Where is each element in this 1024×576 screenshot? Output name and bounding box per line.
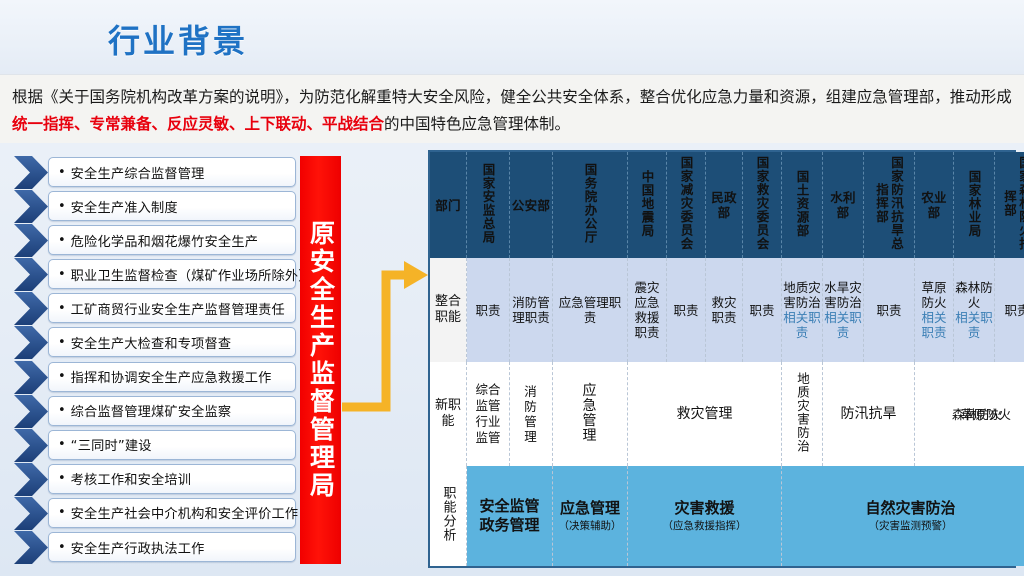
bullet-icon: • xyxy=(58,370,66,383)
cell-main-text: 消防管理 xyxy=(518,384,544,444)
table-cell: 森林防火草原防火 xyxy=(915,362,1024,466)
list-item[interactable]: •工矿商贸行业安全生产监督管理责任 xyxy=(14,292,296,325)
list-item[interactable]: •考核工作和安全培训 xyxy=(14,463,296,496)
table-cell: 职责 xyxy=(995,258,1024,362)
table-cell: 应急管理职责 xyxy=(553,258,628,362)
cell-main-text: 职责 xyxy=(668,303,704,318)
list-item[interactable]: •“三同时”建设 xyxy=(14,429,296,462)
cell-main-text: 草原防火 xyxy=(916,280,952,310)
row-label-text: 职能分析 xyxy=(440,486,457,542)
list-item-pill[interactable]: •安全生产社会中介机构和安全评价工作 xyxy=(48,498,296,528)
bullet-icon: • xyxy=(58,404,66,417)
cell-main-text: 地质灾害防治 xyxy=(794,372,810,453)
bullet-icon: • xyxy=(58,472,66,485)
bullet-icon: • xyxy=(58,541,66,554)
cell-main-text: 森林防火 xyxy=(955,280,993,310)
table-row-function-analysis: 职能分析安全监管政务管理应急管理（决策辅助）灾害救援（应急救援指挥）自然灾害防治… xyxy=(430,466,1024,566)
intro-paragraph: 根据《关于国务院机构改革方案的说明》，为防范化解重特大安全风险，健全公共安全体系… xyxy=(12,84,1012,138)
bullet-icon: • xyxy=(58,506,66,519)
cell-main-text: 自然灾害防治 xyxy=(865,499,955,517)
bullet-icon: • xyxy=(58,200,66,213)
cell-main-text: 消防管理职责 xyxy=(511,295,551,325)
list-item[interactable]: •安全生产社会中介机构和安全评价工作 xyxy=(14,497,296,530)
list-item-pill[interactable]: •工矿商贸行业安全生产监督管理责任 xyxy=(48,293,296,323)
cell-sub-text: 相关职责 xyxy=(824,310,862,340)
chevron-right-icon xyxy=(14,497,50,530)
table-cell: 地质灾害防治 xyxy=(782,362,823,466)
paragraph-part-2-highlight: 统一指挥、专常兼备、反应灵敏、上下联动、平战结合 xyxy=(12,115,384,133)
table-cell: 综合监管行业监管 xyxy=(467,362,510,466)
header-label: 中国地震局 xyxy=(640,170,655,238)
header-label: 国土资源部 xyxy=(795,170,810,238)
chevron-right-icon xyxy=(14,463,50,496)
header-label: 部门 xyxy=(435,198,461,213)
list-item-pill[interactable]: •考核工作和安全培训 xyxy=(48,464,296,494)
cell-sub-text: 相关职责 xyxy=(916,310,952,340)
list-item-pill[interactable]: •“三同时”建设 xyxy=(48,430,296,460)
header-label: 农业部 xyxy=(921,190,947,220)
list-item[interactable]: •安全生产综合监督管理 xyxy=(14,156,296,189)
elbow-arrow xyxy=(340,255,430,445)
table-header-cell: 国家安监总局 xyxy=(467,152,510,258)
table-header-cell: 农业部 xyxy=(915,152,954,258)
table-cell: 职责 xyxy=(467,258,510,362)
list-item[interactable]: •危险化学品和烟花爆竹安全生产 xyxy=(14,224,296,257)
cell-main-text: 应急管理 xyxy=(560,499,620,517)
cell-main-text: 水旱灾害防治 xyxy=(824,280,862,310)
header-label: 国家林业局 xyxy=(967,170,982,238)
header-label: 国家减灾委员会 xyxy=(679,156,694,251)
cell-main-text: 防汛抗旱 xyxy=(841,406,897,422)
chevron-right-icon xyxy=(14,224,50,257)
header-label: 国家安监总局 xyxy=(481,163,496,244)
cell-main-text: 救灾管理 xyxy=(677,406,733,422)
cell-main-text: 综合监管行业监管 xyxy=(475,382,501,446)
table-cell: 水旱灾害防治相关职责 xyxy=(823,258,864,362)
cell-main-text: 灾害救援 xyxy=(674,499,734,517)
cell-main-text: 职责 xyxy=(468,303,508,318)
header-label: 国家救灾委员会 xyxy=(755,156,770,251)
table-cell: 职责 xyxy=(864,258,915,362)
cell-main-text: 救灾职责 xyxy=(707,295,741,325)
list-item-label: 职业卫生监督检查（煤矿作业场所除外） xyxy=(71,265,312,284)
table-cell: 安全监管政务管理 xyxy=(467,466,553,566)
chevron-right-icon xyxy=(14,156,50,189)
left-function-list: •安全生产综合监督管理•安全生产准入制度•危险化学品和烟花爆竹安全生产•职业卫生… xyxy=(14,156,296,564)
list-item-label: 安全生产综合监督管理 xyxy=(71,163,205,182)
table-cell: 防汛抗旱 xyxy=(823,362,915,466)
list-item-pill[interactable]: •指挥和协调安全生产应急救援工作 xyxy=(48,362,296,392)
row-label-new-functions: 新职能 xyxy=(430,362,467,466)
cell-main-text: 安全监管政务管理 xyxy=(475,497,545,535)
table-cell: 应急管理 xyxy=(553,362,628,466)
list-item[interactable]: •综合监督管理煤矿安全监察 xyxy=(14,395,296,428)
list-item[interactable]: •安全生产准入制度 xyxy=(14,190,296,223)
page-title: 行业背景 xyxy=(108,16,248,62)
list-item[interactable]: •安全生产行政执法工作 xyxy=(14,531,296,564)
table-cell: 灾害救援（应急救援指挥） xyxy=(628,466,782,566)
table-cell: 地质灾害防治相关职责 xyxy=(782,258,823,362)
list-item-label: “三同时”建设 xyxy=(71,435,152,454)
table-row-integrated-functions: 整合职能职责消防管理职责应急管理职责震灾应急救援职责职责救灾职责职责地质灾害防治… xyxy=(430,258,1024,362)
table-header-cell: 国家防汛抗旱总指挥部 xyxy=(864,152,915,258)
list-item-label: 指挥和协调安全生产应急救援工作 xyxy=(71,367,272,386)
table-cell: 草原防火相关职责 xyxy=(915,258,954,362)
bullet-icon: • xyxy=(58,438,66,451)
list-item-pill[interactable]: •危险化学品和烟花爆竹安全生产 xyxy=(48,225,296,255)
red-banner-label: 原安全生产监督管理局 xyxy=(304,220,338,500)
list-item-label: 安全生产准入制度 xyxy=(71,197,178,216)
cell-main-text: 职责 xyxy=(744,303,780,318)
table-header-cell: 国务院办公厅 xyxy=(553,152,628,258)
table-header-cell: 民政部 xyxy=(706,152,743,258)
bullet-icon: • xyxy=(58,234,66,247)
row-label-integrated: 整合职能 xyxy=(430,258,467,362)
header-label: 公安部 xyxy=(512,198,550,213)
chevron-right-icon xyxy=(14,292,50,325)
table-cell: 救灾职责 xyxy=(706,258,743,362)
list-item[interactable]: •安全生产大检查和专项督查 xyxy=(14,326,296,359)
header-label: 国务院办公厅 xyxy=(583,163,598,244)
paragraph-part-1: 根据《关于国务院机构改革方案的说明》，为防范化解重特大安全风险，健全公共安全体系… xyxy=(12,88,1012,106)
bullet-icon: • xyxy=(58,336,66,349)
cell-sub-text: 相关职责 xyxy=(783,310,821,340)
paragraph-part-3: 的中国特色应急管理体制。 xyxy=(384,115,570,133)
cell-note-text: （灾害监测预警） xyxy=(783,519,1024,534)
cell-note-text: （应急救援指挥） xyxy=(629,519,780,534)
chevron-right-icon xyxy=(14,429,50,462)
red-vertical-banner: 原安全生产监督管理局 xyxy=(300,156,341,564)
cell-main-text: 地质灾害防治 xyxy=(783,280,821,310)
cell-main-text: 职责 xyxy=(865,303,913,318)
list-item-label: 考核工作和安全培训 xyxy=(71,469,192,488)
table-header-cell: 中国地震局 xyxy=(628,152,667,258)
table-header-cell: 国家救灾委员会 xyxy=(743,152,782,258)
table-cell: 救灾管理 xyxy=(628,362,782,466)
table-header-cell: 国家森林防火指挥部 xyxy=(995,152,1024,258)
table-cell: 自然灾害防治（灾害监测预警） xyxy=(782,466,1024,566)
list-item-pill[interactable]: •安全生产综合监督管理 xyxy=(48,157,296,187)
list-item-pill[interactable]: •安全生产行政执法工作 xyxy=(48,532,296,562)
bullet-icon: • xyxy=(58,166,66,179)
list-item-label: 危险化学品和烟花爆竹安全生产 xyxy=(71,231,258,250)
table-cell: 森林防火相关职责 xyxy=(954,258,995,362)
bullet-icon: • xyxy=(58,302,66,315)
list-item[interactable]: •职业卫生监督检查（煤矿作业场所除外） xyxy=(14,258,296,291)
list-item-label: 工矿商贸行业安全生产监督管理责任 xyxy=(71,299,285,318)
list-item-label: 综合监督管理煤矿安全监察 xyxy=(71,401,232,420)
table-cell: 职责 xyxy=(743,258,782,362)
bullet-icon: • xyxy=(58,268,66,281)
table-header-cell: 水利部 xyxy=(823,152,864,258)
cell-note-text: （决策辅助） xyxy=(554,519,626,534)
overlapping-text: 森林防火草原防火 xyxy=(952,407,1002,422)
chevron-right-icon xyxy=(14,531,50,564)
cell-main-text: 职责 xyxy=(996,303,1024,318)
table-header-row: 部门国家安监总局公安部国务院办公厅中国地震局国家减灾委员会民政部国家救灾委员会国… xyxy=(430,152,1024,258)
list-item-pill[interactable]: •综合监督管理煤矿安全监察 xyxy=(48,396,296,426)
table-cell: 应急管理（决策辅助） xyxy=(553,466,628,566)
table-cell: 职责 xyxy=(667,258,706,362)
table-header-cell: 国家林业局 xyxy=(954,152,995,258)
cell-sub-text: 相关职责 xyxy=(955,310,993,340)
table-header-cell: 公安部 xyxy=(510,152,553,258)
table-header-cell: 部门 xyxy=(430,152,467,258)
cell-overlay-text: 草原防火 xyxy=(961,407,1011,422)
chevron-right-icon xyxy=(14,326,50,359)
list-item-label: 安全生产大检查和专项督查 xyxy=(71,333,232,352)
table-cell: 消防管理 xyxy=(510,362,553,466)
chevron-right-icon xyxy=(14,258,50,291)
table-cell: 震灾应急救援职责 xyxy=(628,258,667,362)
table-header-cell: 国土资源部 xyxy=(782,152,823,258)
table-header-cell: 国家减灾委员会 xyxy=(667,152,706,258)
functions-comparison-table: 部门国家安监总局公安部国务院办公厅中国地震局国家减灾委员会民政部国家救灾委员会国… xyxy=(428,150,1016,568)
list-item-pill[interactable]: •安全生产准入制度 xyxy=(48,191,296,221)
list-item-label: 安全生产社会中介机构和安全评价工作 xyxy=(71,503,299,522)
list-item-label: 安全生产行政执法工作 xyxy=(71,538,205,557)
title-band: 行业背景 xyxy=(0,0,1024,74)
chevron-right-icon xyxy=(14,395,50,428)
list-item[interactable]: •指挥和协调安全生产应急救援工作 xyxy=(14,361,296,394)
row-label-function-analysis: 职能分析 xyxy=(430,466,467,566)
cell-main-text: 应急管理 xyxy=(577,384,603,444)
slide-root: 行业背景 根据《关于国务院机构改革方案的说明》，为防范化解重特大安全风险，健全公… xyxy=(0,0,1024,576)
header-label: 民政部 xyxy=(711,190,737,220)
chevron-right-icon xyxy=(14,361,50,394)
table-cell: 消防管理职责 xyxy=(510,258,553,362)
chevron-right-icon xyxy=(14,190,50,223)
cell-main-text: 应急管理职责 xyxy=(554,295,626,325)
list-item-pill[interactable]: •职业卫生监督检查（煤矿作业场所除外） xyxy=(48,259,296,289)
header-label: 水利部 xyxy=(830,190,856,220)
header-label: 国家森林防火指挥部 xyxy=(1002,151,1024,257)
header-label: 国家防汛抗旱总指挥部 xyxy=(874,151,904,257)
list-item-pill[interactable]: •安全生产大检查和专项督查 xyxy=(48,327,296,357)
cell-main-text: 震灾应急救援职责 xyxy=(629,280,665,340)
table-row-new-functions: 新职能综合监管行业监管消防管理应急管理救灾管理地质灾害防治防汛抗旱森林防火草原防… xyxy=(430,362,1024,466)
